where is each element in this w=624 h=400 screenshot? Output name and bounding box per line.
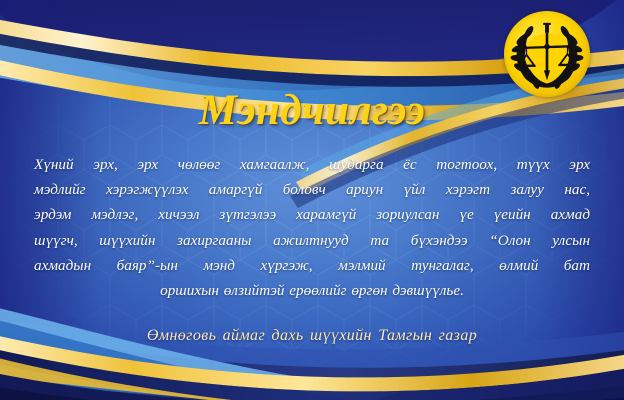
body-line: эрдэм мэдлэг, хичээл зүтгэлээ харамгүй з…: [34, 202, 590, 227]
greeting-card: Мэндчилгээ Хүний эрх, эрх чөлөөг хамгаал…: [0, 0, 624, 400]
body-line: Хүний эрх, эрх чөлөөг хамгаалж, шударга …: [34, 152, 590, 177]
body-line: оршихын өлзийтэй ерөөлийг өргөн дэвшүүль…: [34, 278, 590, 303]
body-line: мэдлийг хэрэгжүүлэх амаргүй боловч ариун…: [34, 177, 590, 202]
signature-line: Өмнөговь аймаг дахь шүүхийн Тамгын газар: [0, 327, 624, 345]
page-title: Мэндчилгээ: [0, 86, 624, 135]
greeting-body: Хүний эрх, эрх чөлөөг хамгаалж, шударга …: [34, 152, 590, 303]
body-line: ахмадын баяр”-ын мэнд хүргэж, мэлмий тун…: [34, 253, 590, 278]
body-line: шүүгч, шүүхийн захиргааны ажилтнууд та б…: [34, 228, 590, 253]
judiciary-emblem: [504, 11, 590, 97]
